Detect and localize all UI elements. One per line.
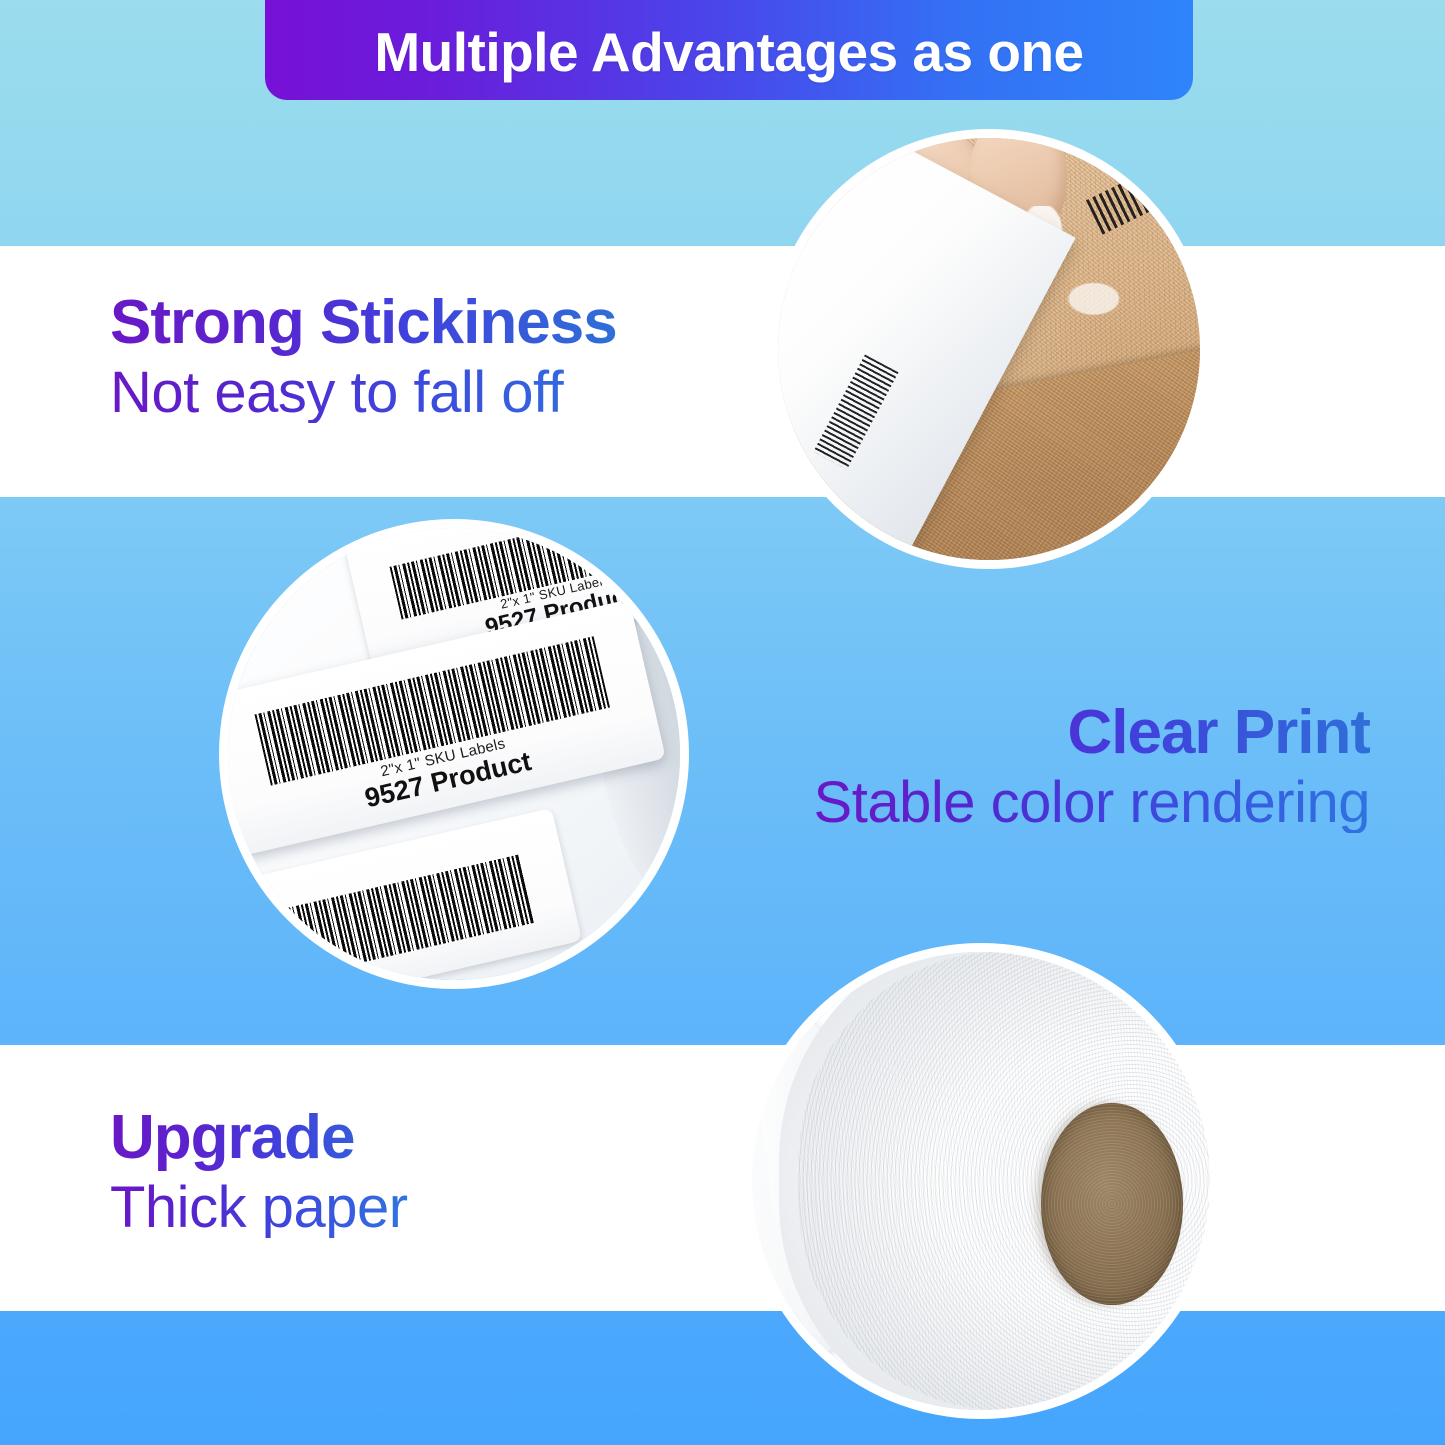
feature-title-upgrade: Upgrade xyxy=(110,1105,408,1171)
header-banner: Multiple Advantages as one xyxy=(265,0,1193,100)
label-roll-cross-section-photo xyxy=(752,952,1210,1410)
barcode xyxy=(228,855,535,980)
feature-subtitle-upgrade: Thick paper xyxy=(110,1177,408,1238)
label-roll-cardboard-core xyxy=(1041,1103,1183,1305)
label-roll-scene xyxy=(752,952,1210,1410)
peeled-label-on-cardboard-photo: 9527 xyxy=(778,138,1200,560)
feature-text-strong-stickiness: Strong Stickiness Not easy to fall off xyxy=(110,290,617,423)
feature-subtitle-clear-print: Stable color rendering xyxy=(814,772,1370,833)
feature-title-clear-print: Clear Print xyxy=(814,700,1370,766)
feature-text-clear-print: Clear Print Stable color rendering xyxy=(814,700,1370,833)
feature-title-strong-stickiness: Strong Stickiness xyxy=(110,290,617,356)
feature-subtitle-strong-stickiness: Not easy to fall off xyxy=(110,362,617,423)
page-title: Multiple Advantages as one xyxy=(374,20,1083,84)
feature-text-upgrade: Upgrade Thick paper xyxy=(110,1105,408,1238)
label-stack-scene: 2"x 1" SKU Labels 9527 Product 2"x 1" SK… xyxy=(228,528,680,980)
stacked-sku-labels-photo: 2"x 1" SKU Labels 9527 Product 2"x 1" SK… xyxy=(228,528,680,980)
